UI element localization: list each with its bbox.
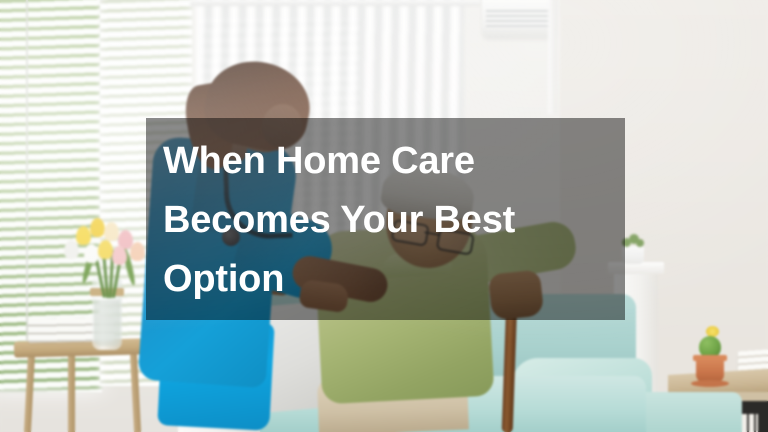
side-table-left-leg: [68, 352, 75, 432]
wall-edge: [548, 0, 557, 114]
hero-banner: When Home Care Becomes Your Best Option: [0, 0, 768, 432]
cactus-saucer: [691, 380, 729, 387]
curtain-rod: [190, 0, 480, 6]
page-title: When Home Care Becomes Your Best Option: [163, 132, 607, 309]
cactus-pot: [696, 358, 724, 382]
vase-water: [94, 300, 120, 346]
tulip-bouquet: [62, 218, 146, 270]
air-conditioner-unit: [482, 0, 556, 38]
air-conditioner-vents-icon: [486, 10, 550, 28]
hero-title-overlay: When Home Care Becomes Your Best Option: [146, 118, 625, 320]
blinds-cord: [26, 0, 28, 354]
